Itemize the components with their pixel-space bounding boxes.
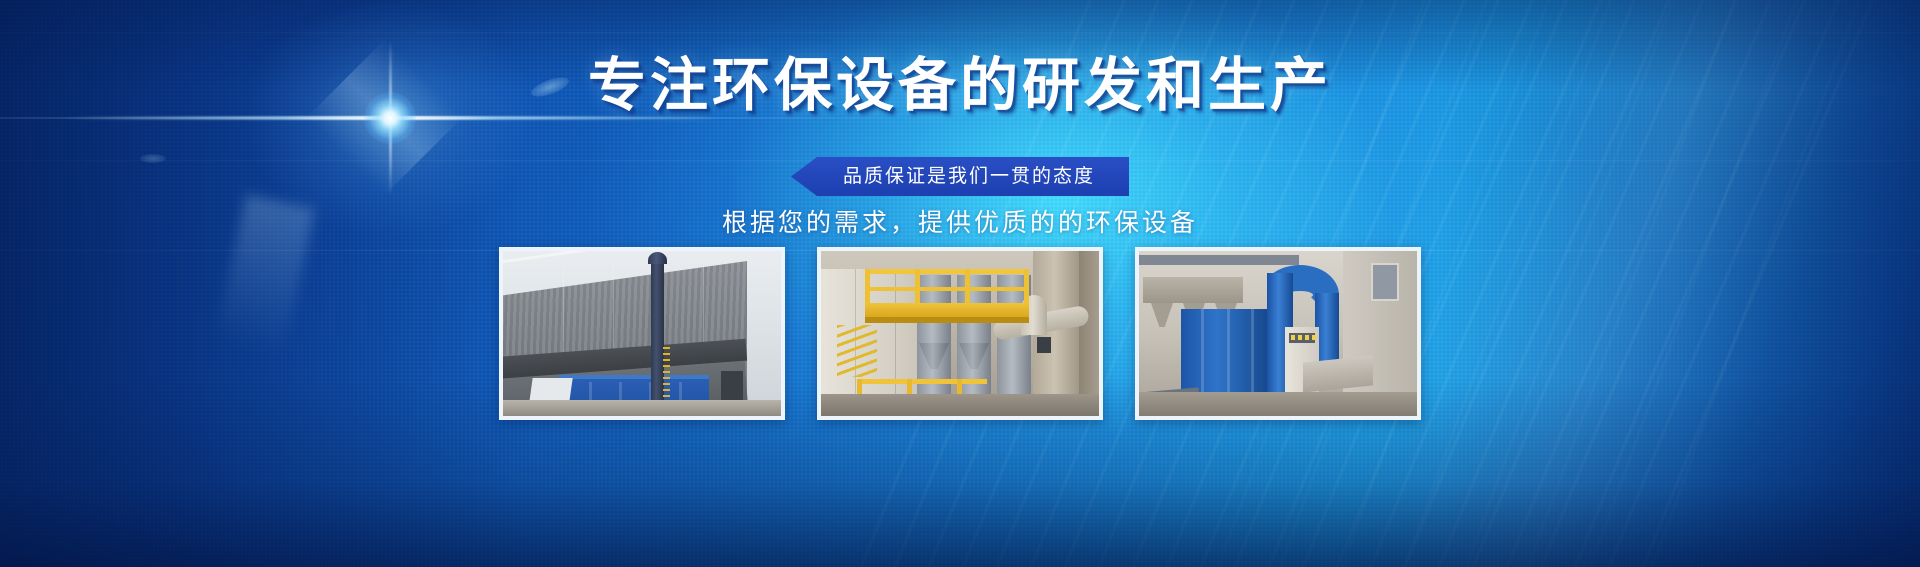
hero-banner: 专注环保设备的研发和生产 品质保证是我们一贯的态度 根据您的需求，提供优质的的环… [0, 0, 1920, 567]
cyclone-rib [1227, 309, 1230, 395]
platform-deck-edge [865, 317, 1029, 323]
scrubber-tank [917, 275, 951, 405]
cyclone-body [1181, 309, 1267, 395]
banner-title: 专注环保设备的研发和生产 [0, 56, 1920, 114]
hopper-row [1143, 277, 1243, 303]
banner-ribbon-tagline: 品质保证是我们一贯的态度 [791, 157, 1129, 196]
cabinet-indicator [1291, 335, 1295, 340]
concrete-pillar-edge [1079, 251, 1099, 416]
photo-platform-scrubber[interactable] [817, 247, 1103, 420]
cyclone-rib [1201, 309, 1204, 395]
cyclone-rib [1251, 309, 1254, 395]
ribbon-wrapper: 品质保证是我们一贯的态度 [0, 157, 1920, 196]
banner-content: 专注环保设备的研发和生产 品质保证是我们一贯的态度 根据您的需求，提供优质的的环… [0, 0, 1920, 567]
overhead-beam [1139, 255, 1299, 265]
window [1371, 263, 1399, 301]
photo-blue-cyclone-image [1139, 251, 1417, 416]
platform-deck [865, 303, 1029, 317]
platform-handrail-top [865, 269, 1029, 274]
photo-factory-stack-image [503, 251, 781, 416]
scrubber-tank [957, 275, 991, 405]
platform-handrail-mid [865, 287, 1029, 291]
banner-subtitle: 根据您的需求，提供优质的的环保设备 [0, 203, 1920, 239]
floor [1139, 392, 1417, 416]
photo-factory-stack[interactable] [499, 247, 785, 420]
ground [503, 400, 781, 416]
photo-platform-scrubber-image [821, 251, 1099, 416]
white-panel [529, 378, 572, 402]
floor [821, 394, 1099, 416]
control-box [1037, 337, 1051, 353]
photo-blue-cyclone[interactable] [1135, 247, 1421, 420]
exhaust-stack-cap [648, 252, 667, 264]
access-stair [837, 325, 877, 377]
cabinet-indicator [1305, 335, 1309, 340]
lower-handrail [857, 379, 987, 384]
cabinet-indicator [1312, 335, 1316, 340]
photo-gallery [0, 247, 1920, 420]
cabinet-indicator [1298, 335, 1302, 340]
